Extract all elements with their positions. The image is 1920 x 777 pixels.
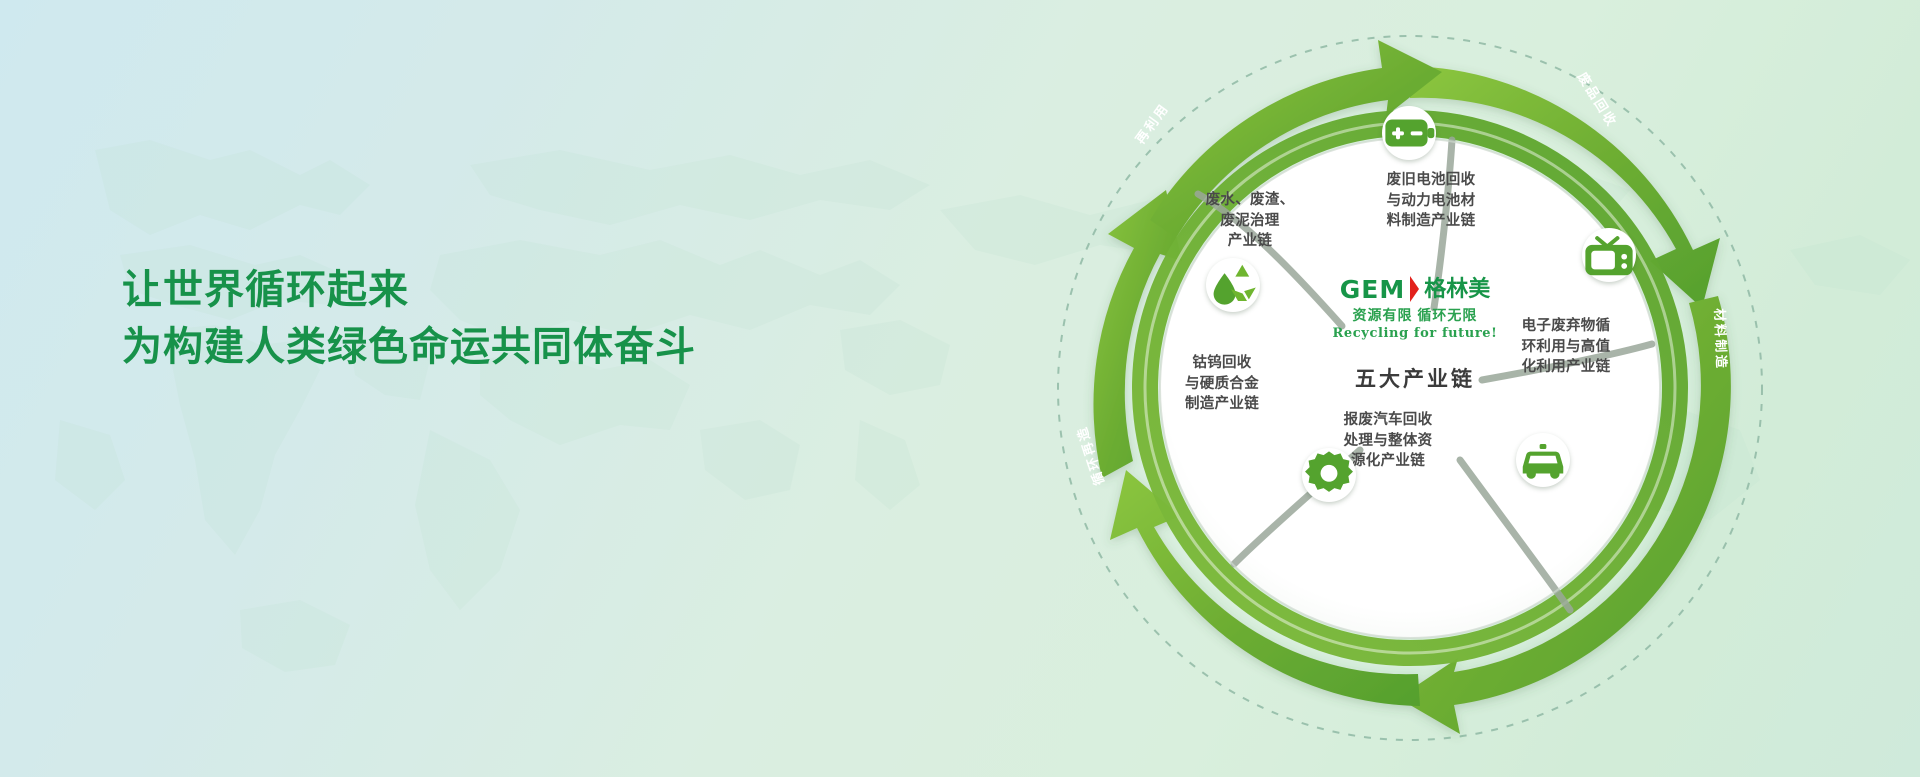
car-icon: [1516, 80, 1570, 777]
node-vehicle[interactable]: [1516, 433, 1570, 487]
recycle-droplet-icon: [1206, 0, 1260, 665]
node-electronics[interactable]: [1582, 228, 1636, 282]
node-hardmetal[interactable]: [1302, 448, 1356, 502]
headline-line-1: 让世界循环起来: [122, 262, 696, 319]
ring-label-material-manufacturing: 材料制造: [1711, 308, 1732, 371]
television-icon: [1582, 0, 1636, 635]
hero-banner: 让世界循环起来 为构建人类绿色命运共同体奋斗: [0, 0, 1920, 777]
value-chain-diagram: GEM 格林美 资源有限 循环无限 Recycling for future! …: [1030, 8, 1790, 768]
node-battery[interactable]: [1382, 106, 1436, 160]
node-water-treatment[interactable]: [1206, 258, 1260, 312]
gear-icon: [1302, 95, 1356, 777]
battery-icon: [1382, 0, 1436, 513]
headline-line-2: 为构建人类绿色命运共同体奋斗: [122, 319, 696, 376]
page-title: 让世界循环起来 为构建人类绿色命运共同体奋斗: [122, 262, 696, 376]
